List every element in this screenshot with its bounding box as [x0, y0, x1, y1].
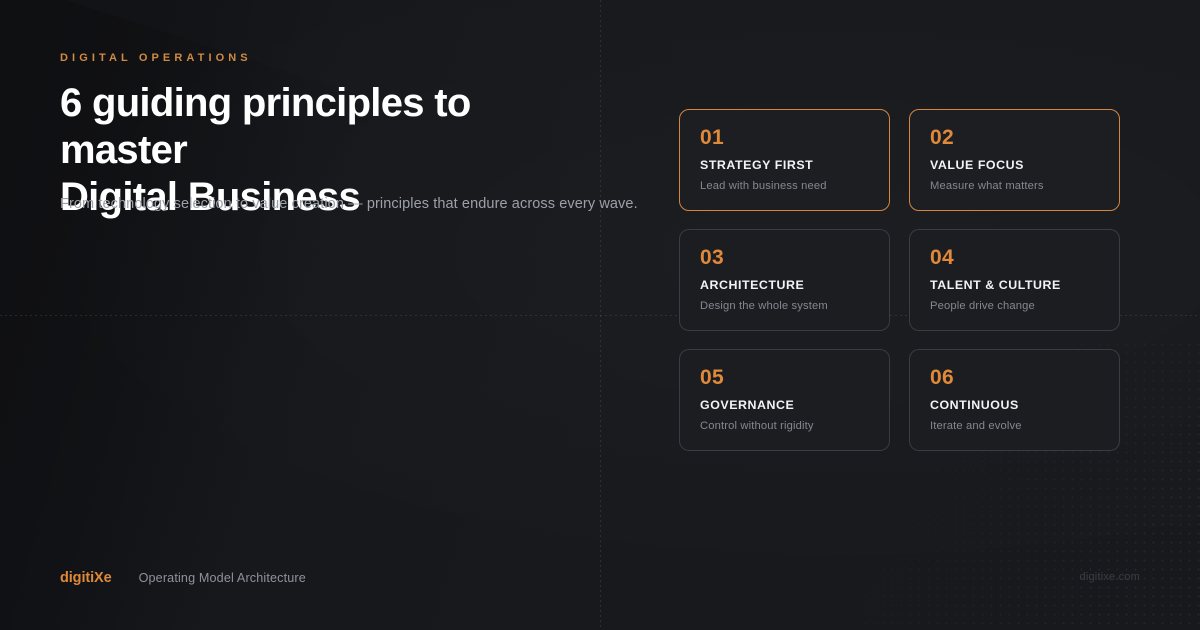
- card-number: 06: [930, 367, 1099, 388]
- card-number: 04: [930, 247, 1099, 268]
- headline-line-1: 6 guiding principles to master: [60, 81, 471, 172]
- card-description: Control without rigidity: [700, 420, 869, 433]
- card-title: STRATEGY FIRST: [700, 159, 869, 171]
- card-description: Design the whole system: [700, 300, 869, 313]
- footer: digitiXe Operating Model Architecture: [60, 570, 306, 586]
- card-description: Lead with business need: [700, 180, 869, 193]
- card-title: CONTINUOUS: [930, 399, 1099, 411]
- card-number: 05: [700, 367, 869, 388]
- principle-card-02[interactable]: 02 VALUE FOCUS Measure what matters: [909, 109, 1120, 211]
- principles-grid: 01 STRATEGY FIRST Lead with business nee…: [679, 109, 1120, 451]
- footer-url: digitixe.com: [1080, 571, 1140, 583]
- principle-card-01[interactable]: 01 STRATEGY FIRST Lead with business nee…: [679, 109, 890, 211]
- card-title: VALUE FOCUS: [930, 159, 1099, 171]
- slide: DIGITAL OPERATIONS 6 guiding principles …: [0, 0, 1200, 630]
- brand-logo: digitiXe: [60, 570, 112, 586]
- card-number: 01: [700, 127, 869, 148]
- card-number: 02: [930, 127, 1099, 148]
- principle-card-03[interactable]: 03 ARCHITECTURE Design the whole system: [679, 229, 890, 331]
- subtitle: From technology selection to value creat…: [60, 194, 680, 216]
- principle-card-04[interactable]: 04 TALENT & CULTURE People drive change: [909, 229, 1120, 331]
- card-description: Measure what matters: [930, 180, 1099, 193]
- card-description: Iterate and evolve: [930, 420, 1099, 433]
- card-description: People drive change: [930, 300, 1099, 313]
- eyebrow-label: DIGITAL OPERATIONS: [60, 52, 640, 64]
- principle-card-05[interactable]: 05 GOVERNANCE Control without rigidity: [679, 349, 890, 451]
- footer-caption: Operating Model Architecture: [139, 571, 306, 585]
- card-title: GOVERNANCE: [700, 399, 869, 411]
- principle-card-06[interactable]: 06 CONTINUOUS Iterate and evolve: [909, 349, 1120, 451]
- card-number: 03: [700, 247, 869, 268]
- card-title: TALENT & CULTURE: [930, 279, 1099, 291]
- card-title: ARCHITECTURE: [700, 279, 869, 291]
